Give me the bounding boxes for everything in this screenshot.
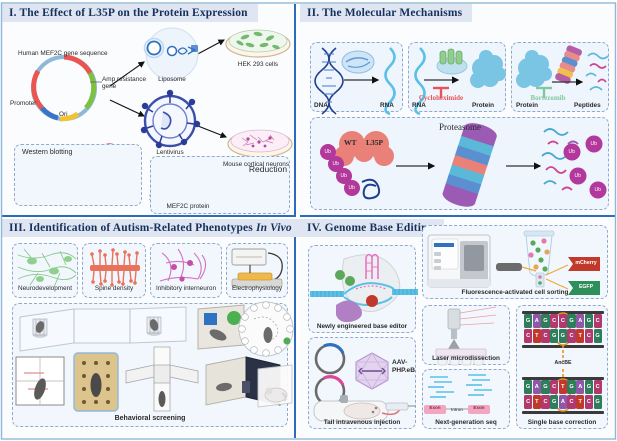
ub-label-6: Ub [591, 141, 597, 147]
assay-label-interneuron: Inhibitory interneuron [156, 285, 216, 292]
ub-label-3: Ub [341, 173, 347, 179]
dna-base-after-top-5: G [567, 380, 575, 394]
dna-base-after-top-8: C [594, 380, 602, 394]
ub-label-5: Ub [569, 149, 575, 155]
protein-label-out: Protein [472, 102, 494, 109]
proteasome-small-icon [554, 44, 583, 84]
dna-base-before-top-3: C [550, 314, 558, 328]
dna-base-before-bottom-4: G [559, 329, 567, 343]
dna-base-before-bottom-1: T [533, 329, 541, 343]
l35p-label: L35P [366, 138, 383, 147]
dna-before-top-row: GAGCCGAGC [524, 314, 602, 328]
promoter-label: Promoter [10, 100, 36, 107]
amp-label-line2: gene [102, 83, 116, 90]
neurodevelopment-icon [18, 249, 76, 287]
dna-base-after-top-4: T [559, 380, 567, 394]
exon-left-label: Exon [429, 405, 440, 410]
facs-caption: Fluorescence-activated cell sorting [462, 289, 569, 296]
liposome-label: Liposome [158, 76, 186, 83]
dna-label: DNA [314, 102, 328, 109]
protein-blob-icon-1 [470, 50, 506, 88]
hole-board-icon [74, 353, 118, 411]
ori-label: Ori [59, 111, 68, 118]
assay-label-neurodevelopment: Neurodevelopment [18, 285, 72, 292]
aav-label-line2: PHP.eB [392, 367, 415, 374]
peptides-icon [586, 54, 608, 91]
hek-label: HEK 293 cells [238, 61, 278, 68]
inhibitory-interneuron-icon [160, 249, 206, 281]
plasmid-gene-label: Human MEF2C gene sequence [18, 50, 108, 57]
tail-injection-icon [314, 395, 416, 421]
novel-object-icon [198, 305, 244, 349]
dna-base-before-bottom-3: G [550, 329, 558, 343]
base-editor-caption: Newly engineered base editor [317, 323, 407, 330]
dna-base-after-top-3: C [550, 380, 558, 394]
mcherry-tag-label: mCherry [575, 260, 596, 266]
dna-base-after-top-0: G [524, 380, 532, 394]
cycloheximide-label: Cycloheximide [419, 94, 463, 102]
ub-label-7: Ub [575, 173, 581, 179]
rna-label-out: RNA [380, 102, 394, 109]
behavior-caption: Behavioral screening [115, 415, 186, 422]
dna-base-before-bottom-5: C [567, 329, 575, 343]
dna-base-before-top-1: A [533, 314, 541, 328]
assay-label-spine-density: Spine density [95, 285, 133, 292]
cup-icon [33, 319, 47, 338]
lentivirus-icon [141, 90, 200, 148]
hek-dish-icon [226, 30, 290, 57]
electrophysiology-icon [232, 249, 282, 287]
open-field-icon [16, 357, 64, 405]
dna-base-after-bottom-8: G [594, 395, 602, 409]
dna-base-after-bottom-2: C [541, 395, 549, 409]
neuron-soma-icon [27, 256, 72, 282]
neuron-dish-icon [228, 130, 292, 157]
proteasome-title: Proteasome [439, 122, 481, 132]
dna-base-after-bottom-5: C [567, 395, 575, 409]
intron-label: Intron [451, 407, 463, 412]
facs-machine-icon [428, 235, 490, 287]
ub-label-4: Ub [349, 185, 355, 191]
dna-base-after-bottom-0: C [524, 395, 532, 409]
dna-base-before-top-4: C [559, 314, 567, 328]
polymerase-icon [342, 51, 374, 73]
plasmid-diagram [33, 57, 102, 119]
ngs-caption: Next-generation seq [435, 419, 496, 426]
ub-label-2: Ub [333, 161, 339, 167]
microdissection-caption: Laser microdissection [432, 355, 500, 362]
mef2c-label: MEF2C protein [167, 203, 210, 210]
dna-base-after-bottom-3: G [550, 395, 558, 409]
panel-4: IV. Genome Base Editing [300, 219, 615, 438]
ub-label-8: Ub [595, 187, 601, 193]
peptides-label: Peptides [574, 102, 601, 109]
dna-base-before-bottom-2: C [541, 329, 549, 343]
injection-caption: Tail intravenous injection [324, 419, 401, 426]
graphical-abstract: I. The Effect of L35P on the Protein Exp… [0, 0, 617, 441]
dna-base-before-top-5: G [567, 314, 575, 328]
dna-base-after-bottom-1: T [533, 395, 541, 409]
amp-label-line1: Amp resistance [102, 76, 146, 83]
protein-blob-icon-2 [516, 50, 552, 88]
protein-label-in: Protein [516, 102, 538, 109]
dna-after-bottom-row: CTCGACTCG [524, 395, 602, 409]
dna-base-before-bottom-7: C [585, 329, 593, 343]
dna-base-after-top-2: G [541, 380, 549, 394]
barnes-maze-icon [239, 302, 294, 357]
cup-icon-2 [147, 317, 161, 336]
dna-base-before-bottom-6: T [576, 329, 584, 343]
dna-base-before-top-8: C [594, 314, 602, 328]
dna-base-before-top-0: G [524, 314, 532, 328]
panel-3-graphics [2, 219, 296, 438]
proteasome-barrel-icon [441, 120, 499, 210]
elevated-plus-maze-icon [126, 347, 198, 411]
aav-label-line1: AAV- [392, 359, 407, 366]
wt-label: WT [344, 138, 357, 147]
sample-tube-icon [524, 231, 554, 287]
lentivirus-label: Lentivirus [156, 149, 183, 156]
spine-density-icon [90, 248, 140, 287]
dna-base-before-top-6: A [576, 314, 584, 328]
aav-plasmids-icon [316, 345, 344, 405]
panel-2-graphics [300, 4, 615, 217]
dna-base-after-top-6: A [576, 380, 584, 394]
dna-before-bottom-row: CTCGGCTCG [524, 329, 602, 343]
dna-after-top-row: GAGCTGAGC [524, 380, 602, 394]
dna-base-before-top-7: G [585, 314, 593, 328]
egfp-tag-label: EGFP [579, 284, 593, 290]
exon-right-label: Exon [473, 405, 484, 410]
panel-3: III. Identification of Autism-Related Ph… [2, 219, 296, 438]
dna-base-after-bottom-6: T [576, 395, 584, 409]
dna-base-before-bottom-0: C [524, 329, 532, 343]
ribosome-icon [437, 49, 467, 74]
aav-capsid-icon [356, 353, 388, 389]
base-correction-caption: Single base correction [528, 419, 597, 426]
reduction-label: Reduction [249, 164, 287, 174]
base-editor-icon [310, 255, 418, 323]
base-editor-name-label: AncBE [554, 360, 571, 366]
dna-base-after-bottom-7: C [585, 395, 593, 409]
assay-label-electrophysiology: Electrophysiology [232, 285, 282, 292]
dna-base-before-bottom-8: G [594, 329, 602, 343]
dna-base-after-top-7: G [585, 380, 593, 394]
ub-label-1: Ub [325, 149, 331, 155]
rna-label-in: RNA [412, 102, 426, 109]
dna-base-before-top-2: G [541, 314, 549, 328]
bortezomib-label: Bortezomib [531, 94, 566, 102]
liposome-icon [145, 28, 199, 80]
western-label: Western blotting [22, 149, 72, 156]
dna-base-after-bottom-4: A [559, 395, 567, 409]
panel-1: I. The Effect of L35P on the Protein Exp… [2, 4, 296, 217]
dna-base-after-top-1: A [533, 380, 541, 394]
panel-2: II. The Molecular Mechanisms [300, 4, 615, 217]
grooming-box-icon [258, 365, 292, 407]
